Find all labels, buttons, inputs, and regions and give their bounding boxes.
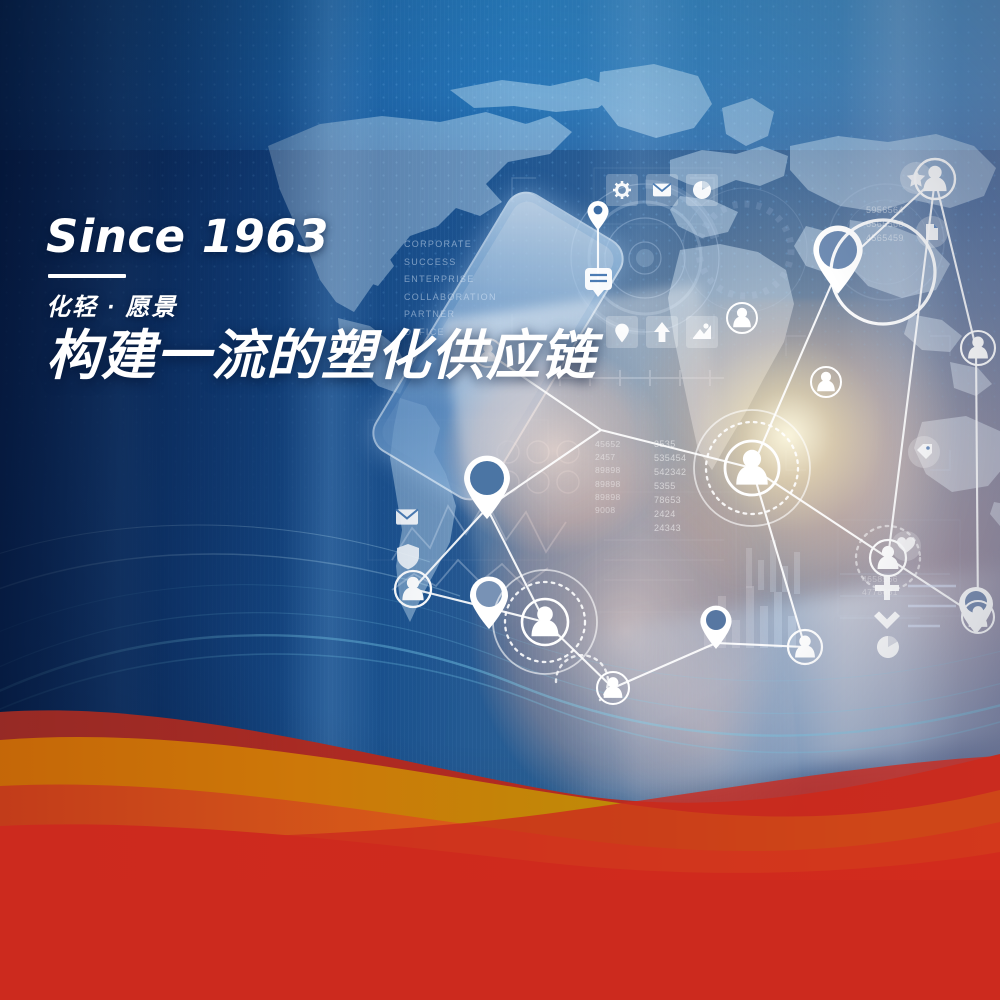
marketing-banner: 45652 2457 89898 89898 89898 9008 3535 5… [0,0,1000,1000]
bottom-wave-graphics [0,0,1000,1000]
